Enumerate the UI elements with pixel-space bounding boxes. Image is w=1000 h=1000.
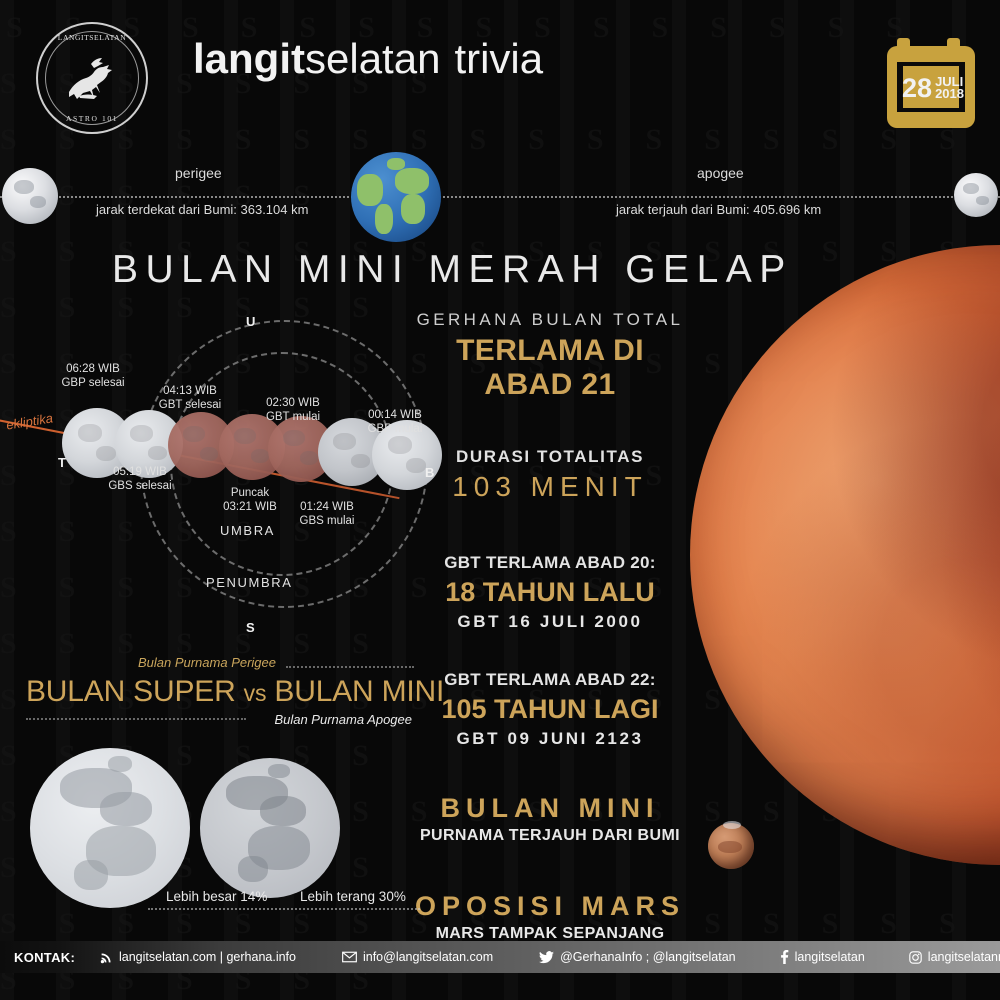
diagram-point-west: T	[58, 455, 66, 470]
contact-bar: langitselatan.com | gerhana.info info@la…	[0, 941, 1000, 973]
peak-text: Puncak	[231, 487, 269, 499]
contact-items: langitselatan.com | gerhana.info info@la…	[0, 950, 1000, 964]
penumbra-label: PENUMBRA	[206, 575, 292, 590]
compare-bottom-caption-row: Bulan Purnama Apogee	[26, 709, 426, 733]
phase-event-1: GBP selesai	[61, 377, 124, 389]
moon-icon-apogee	[954, 173, 998, 217]
contact-text-website: langitselatan.com | gerhana.info	[119, 950, 296, 964]
phase-event-4: GBT mulai	[266, 411, 320, 423]
supermoon-vs-minimoon: Bulan Purnama Perigee BULAN SUPER vs BUL…	[26, 655, 426, 733]
peak-time: 03:21 WIB	[223, 501, 277, 513]
perigee-detail: jarak terdekat dari Bumi: 363.104 km	[96, 202, 308, 217]
logo-top-text: LANGITSELATAN	[38, 33, 146, 42]
apogee-title: apogee	[697, 165, 744, 181]
compare-top-caption-row: Bulan Purnama Perigee	[26, 655, 426, 675]
compare-headline: BULAN SUPER vs BULAN MINI	[26, 675, 426, 709]
umbra-label: UMBRA	[220, 523, 275, 538]
eclipse-headline: TERLAMA DI ABAD 21	[410, 334, 690, 402]
century20-value: 18 TAHUN LALU	[410, 577, 690, 608]
diagram-point-south: S	[246, 620, 255, 635]
phase-time-3: 04:13 WIB	[163, 385, 217, 397]
rss-icon	[100, 951, 113, 964]
phase-time-4: 02:30 WIB	[266, 397, 320, 409]
compare-label-dots	[148, 908, 420, 910]
minimoon-title: BULAN MINI	[410, 793, 690, 824]
info-column: GERHANA BULAN TOTAL TERLAMA DI ABAD 21 D…	[410, 310, 690, 961]
century20-detail: GBT 16 JULI 2000	[410, 612, 690, 632]
supermoon-disc	[30, 748, 190, 908]
phase-time-1: 06:28 WIB	[66, 363, 120, 375]
logo-bottom-text: ASTRO 101	[38, 114, 146, 123]
contact-item-instagram[interactable]: langitselatanmedia	[909, 950, 1000, 964]
contact-item-twitter[interactable]: @GerhanaInfo ; @langitselatan	[539, 950, 735, 964]
minimoon-disc	[200, 758, 340, 898]
contact-text-twitter: @GerhanaInfo ; @langitselatan	[560, 950, 735, 964]
compare-bottom-caption: Bulan Purnama Apogee	[274, 712, 412, 727]
compare-headline-vs: vs	[244, 680, 267, 706]
diagram-point-north: U	[246, 314, 255, 329]
contact-item-facebook[interactable]: langitselatan	[780, 950, 865, 964]
peak-label: Puncak 03:21 WIB	[185, 486, 315, 514]
eclipse-diagram: ekliptika U	[0, 300, 470, 650]
apogee-detail: jarak terjauh dari Bumi: 405.696 km	[616, 202, 821, 217]
brand-light: selatan	[305, 35, 440, 82]
facebook-icon	[780, 950, 789, 964]
contact-item-website[interactable]: langitselatan.com | gerhana.info	[100, 950, 296, 964]
label-brighter: Lebih terang 30%	[300, 889, 406, 904]
century22-kicker: GBT TERLAMA ABAD 22:	[410, 670, 690, 690]
contact-text-instagram: langitselatanmedia	[928, 950, 1000, 964]
phase-time-2: 05:19 WIB	[113, 466, 167, 478]
contact-item-email[interactable]: info@langitselatan.com	[342, 950, 493, 964]
compare-headline-right: BULAN MINI	[274, 675, 444, 708]
duration-kicker: DURASI TOTALITAS	[410, 447, 690, 467]
century20-kicker: GBT TERLAMA ABAD 20:	[410, 553, 690, 573]
brand-bold: langit	[193, 35, 305, 82]
infographic-root: SSSSSSSSSSSSSSSSSSSSSSSS SSSSSSSSSSSSSSS…	[0, 0, 1000, 1000]
label-bigger: Lebih besar 14%	[166, 889, 267, 904]
langitselatan-logo: LANGITSELATAN ASTRO 101	[36, 22, 148, 134]
envelope-icon	[342, 951, 357, 963]
mars-title: OPOSISI MARS	[410, 891, 690, 922]
century22-value: 105 TAHUN LAGI	[410, 694, 690, 725]
compare-top-dots	[286, 666, 414, 668]
calendar-icon: 28 JULI 2018	[885, 32, 977, 130]
perigee-title: perigee	[175, 165, 222, 181]
contact-text-facebook: langitselatan	[795, 950, 865, 964]
brand-trivia: trivia	[454, 35, 543, 82]
kontak-label: KONTAK:	[14, 941, 75, 973]
brand-title: langitselatantrivia	[193, 38, 543, 80]
contact-text-email: info@langitselatan.com	[363, 950, 493, 964]
twitter-icon	[539, 951, 554, 964]
orbit-dotted-line	[0, 196, 1000, 198]
phase-event-3: GBT selesai	[159, 399, 221, 411]
duration-value: 103 MENIT	[410, 471, 690, 503]
calendar-day: 28	[902, 75, 932, 102]
moon-icon-perigee	[2, 168, 58, 224]
compare-top-caption: Bulan Purnama Perigee	[138, 655, 276, 670]
page-title: BULAN MINI MERAH GELAP	[112, 248, 793, 292]
mars-planet-illustration	[708, 823, 754, 869]
instagram-icon	[909, 951, 922, 964]
eclipse-kicker: GERHANA BULAN TOTAL	[410, 310, 690, 330]
horse-rider-icon	[61, 52, 123, 104]
compare-bottom-dots	[26, 718, 246, 720]
compare-headline-left: BULAN SUPER	[26, 675, 236, 708]
century22-detail: GBT 09 JUNI 2123	[410, 729, 690, 749]
minimoon-sub: PURNAMA TERJAUH DARI BUMI	[410, 827, 690, 845]
phase-event-2: GBS selesai	[108, 480, 171, 492]
phase-event-5: GBS mulai	[300, 515, 355, 527]
earth-globe-icon	[351, 152, 441, 242]
calendar-year: 2018	[935, 88, 964, 100]
